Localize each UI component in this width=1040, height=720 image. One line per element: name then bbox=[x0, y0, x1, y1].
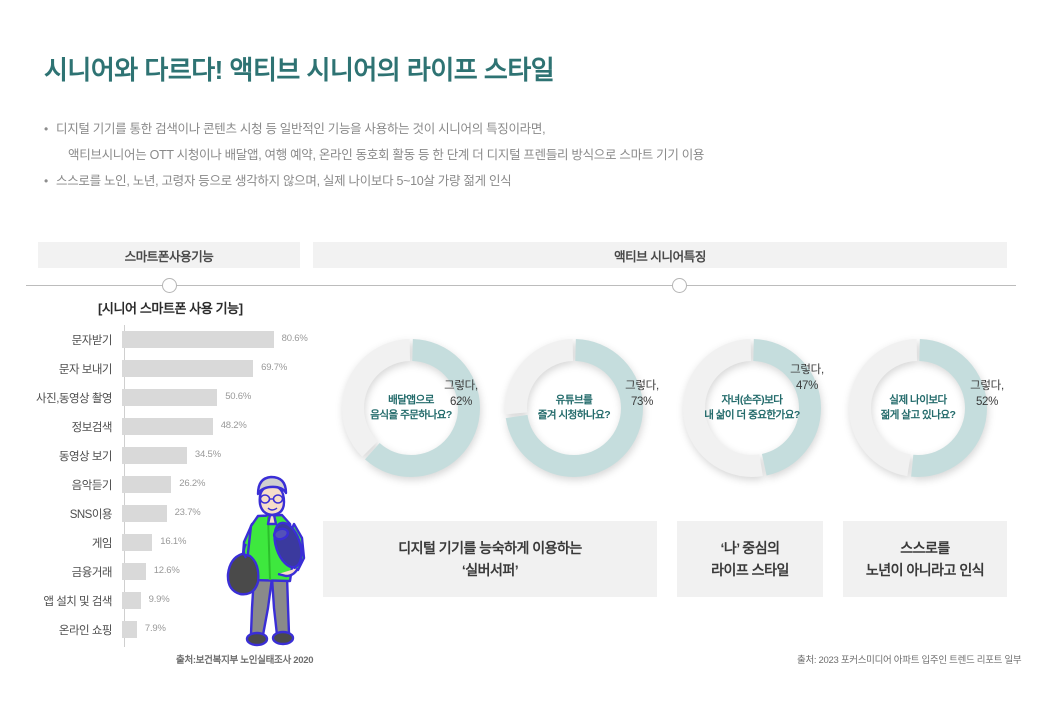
bullet-marker-icon: • bbox=[44, 118, 56, 140]
bar-category-label: 사진,동영상 촬영 bbox=[36, 390, 120, 406]
bar-fill bbox=[122, 389, 217, 406]
senior-illustration bbox=[218, 458, 322, 650]
bullet-item: • 스스로를 노인, 노년, 고령자 등으로 생각하지 않으며, 실제 나이보다… bbox=[44, 170, 1004, 192]
bar-value-label: 16.1% bbox=[160, 536, 186, 547]
bullet-text: 스스로를 노인, 노년, 고령자 등으로 생각하지 않으며, 실제 나이보다 5… bbox=[56, 170, 511, 192]
bar-fill bbox=[122, 592, 141, 609]
bar-chart-title: [시니어 스마트폰 사용 기능] bbox=[98, 298, 243, 317]
summary-card-2-line2: 라이프 스타일 bbox=[711, 559, 789, 581]
bar-value-label: 9.9% bbox=[149, 594, 170, 605]
donut-3-answer-label: 그렇다, bbox=[778, 362, 836, 378]
bar-value-label: 23.7% bbox=[175, 507, 201, 518]
summary-card-2: ‘나’ 중심의 라이프 스타일 bbox=[677, 521, 823, 597]
summary-card-3-line1: 스스로를 bbox=[866, 537, 984, 559]
section-header-active-senior-traits: 액티브 시니어특징 bbox=[313, 242, 1007, 268]
bar-fill bbox=[122, 563, 146, 580]
donut-3-value: 그렇다, 47% bbox=[778, 362, 836, 394]
bar-chart-source: 출처:보건복지부 노인실태조사 2020 bbox=[176, 652, 313, 666]
bar-value-label: 48.2% bbox=[221, 420, 247, 431]
bar-category-label: 금융거래 bbox=[36, 564, 120, 580]
bar-track: 69.7% bbox=[120, 354, 326, 383]
bar-category-label: 문자 보내기 bbox=[36, 361, 120, 377]
bar-value-label: 26.2% bbox=[179, 478, 205, 489]
bar-track: 50.6% bbox=[120, 383, 326, 412]
bar-category-label: 게임 bbox=[36, 535, 120, 551]
donut-source: 출처: 2023 포커스미디어 아파트 입주인 트렌드 리포트 일부 bbox=[797, 652, 1021, 666]
infographic-page: 시니어와 다르다! 액티브 시니어의 라이프 스타일 • 디지털 기기를 통한 … bbox=[0, 0, 1040, 720]
donut-4-answer-label: 그렇다, bbox=[958, 378, 1016, 394]
bar-track: 80.6% bbox=[120, 325, 326, 354]
bar-fill bbox=[122, 621, 137, 638]
donut-3-percent: 47% bbox=[778, 378, 836, 394]
bar-fill bbox=[122, 447, 187, 464]
bar-category-label: SNS이용 bbox=[36, 506, 120, 522]
summary-card-1-line2: ‘실버서퍼’ bbox=[398, 559, 582, 581]
bullet-text: 액티브시니어는 OTT 시청이나 배달앱, 여행 예약, 온라인 동호회 활동 … bbox=[68, 144, 704, 166]
bar-value-label: 69.7% bbox=[261, 362, 287, 373]
bullet-item: • 디지털 기기를 통한 검색이나 콘텐츠 시청 등 일반적인 기능을 사용하는… bbox=[44, 118, 1004, 140]
summary-card-3-line2: 노년이 아니라고 인식 bbox=[866, 559, 984, 581]
summary-card-3: 스스로를 노년이 아니라고 인식 bbox=[843, 521, 1007, 597]
bar-category-label: 앱 설치 및 검색 bbox=[36, 593, 120, 609]
bar-category-label: 음악듣기 bbox=[36, 477, 120, 493]
donut-1-percent: 62% bbox=[432, 394, 490, 410]
timeline-marker-2-icon bbox=[672, 278, 687, 293]
bullet-item: 액티브시니어는 OTT 시청이나 배달앱, 여행 예약, 온라인 동호회 활동 … bbox=[44, 144, 1004, 166]
bar-category-label: 온라인 쇼핑 bbox=[36, 622, 120, 638]
bullet-marker-icon: • bbox=[44, 170, 56, 192]
bar-row: 문자받기80.6% bbox=[36, 325, 326, 354]
donut-4-value: 그렇다, 52% bbox=[958, 378, 1016, 410]
summary-card-1-line1: 디지털 기기를 능숙하게 이용하는 bbox=[398, 537, 582, 559]
summary-card-2-line1: ‘나’ 중심의 bbox=[711, 537, 789, 559]
section-header-smartphone-usage: 스마트폰사용기능 bbox=[38, 242, 300, 268]
bar-fill bbox=[122, 418, 213, 435]
bar-fill bbox=[122, 360, 253, 377]
timeline-marker-1-icon bbox=[162, 278, 177, 293]
donut-2-percent: 73% bbox=[613, 394, 671, 410]
donut-1-value: 그렇다, 62% bbox=[432, 378, 490, 410]
bar-category-label: 동영상 보기 bbox=[36, 448, 120, 464]
bar-value-label: 80.6% bbox=[282, 333, 308, 344]
donut-2-value: 그렇다, 73% bbox=[613, 378, 671, 410]
bar-value-label: 7.9% bbox=[145, 623, 166, 634]
bar-track: 48.2% bbox=[120, 412, 326, 441]
bar-category-label: 문자받기 bbox=[36, 332, 120, 348]
bar-fill bbox=[122, 331, 274, 348]
donut-4-percent: 52% bbox=[958, 394, 1016, 410]
bar-row: 정보검색48.2% bbox=[36, 412, 326, 441]
bar-category-label: 정보검색 bbox=[36, 419, 120, 435]
donut-1-answer-label: 그렇다, bbox=[432, 378, 490, 394]
bar-row: 문자 보내기69.7% bbox=[36, 354, 326, 383]
bar-fill bbox=[122, 476, 171, 493]
bar-value-label: 50.6% bbox=[225, 391, 251, 402]
bullet-list: • 디지털 기기를 통한 검색이나 콘텐츠 시청 등 일반적인 기능을 사용하는… bbox=[44, 118, 1004, 196]
bar-value-label: 34.5% bbox=[195, 449, 221, 460]
bar-fill bbox=[122, 534, 152, 551]
donut-2-answer-label: 그렇다, bbox=[613, 378, 671, 394]
bar-row: 사진,동영상 촬영50.6% bbox=[36, 383, 326, 412]
summary-card-1: 디지털 기기를 능숙하게 이용하는 ‘실버서퍼’ bbox=[323, 521, 657, 597]
donut-chart-3 bbox=[680, 336, 824, 480]
bullet-text: 디지털 기기를 통한 검색이나 콘텐츠 시청 등 일반적인 기능을 사용하는 것… bbox=[56, 118, 545, 140]
bar-value-label: 12.6% bbox=[154, 565, 180, 576]
page-title: 시니어와 다르다! 액티브 시니어의 라이프 스타일 bbox=[44, 50, 554, 87]
bar-fill bbox=[122, 505, 167, 522]
